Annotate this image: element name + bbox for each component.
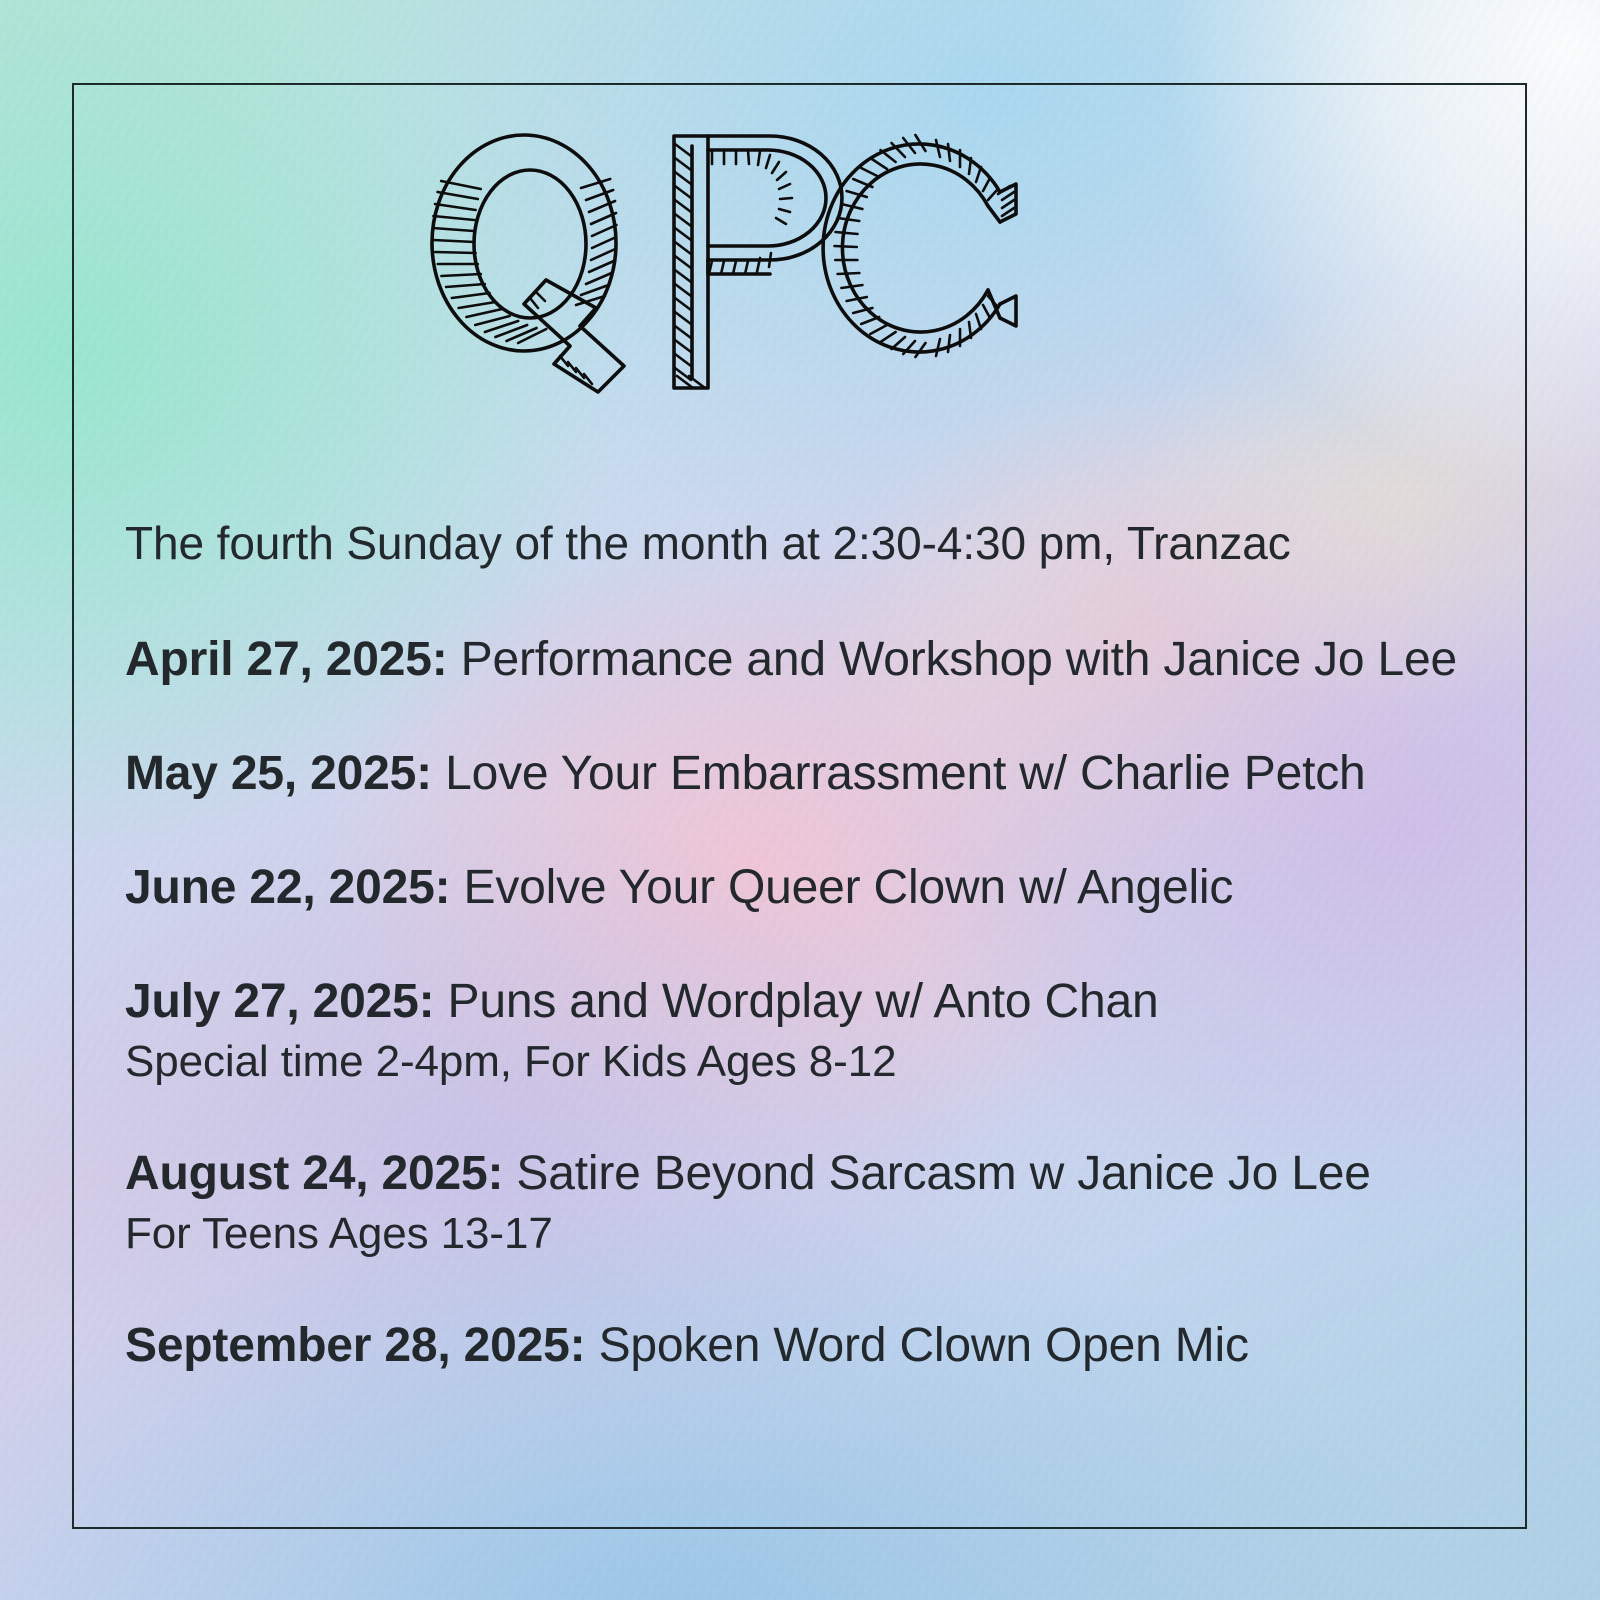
poster-text-content: The fourth Sunday of the month at 2:30-4…: [125, 520, 1485, 1370]
logo-letter-c: [823, 135, 1016, 357]
event-sub-line: Special time 2-4pm, For Kids Ages 8-12: [125, 1040, 1485, 1084]
event-main-line: June 22, 2025: Evolve Your Queer Clown w…: [125, 864, 1485, 912]
event-date: August 24, 2025:: [125, 1147, 503, 1200]
event-main-line: May 25, 2025: Love Your Embarrassment w/…: [125, 750, 1485, 798]
qpc-logo: [420, 128, 1100, 398]
event-main-line: July 27, 2025: Puns and Wordplay w/ Anto…: [125, 978, 1485, 1026]
event-date: July 27, 2025:: [125, 975, 434, 1028]
event-main-line: April 27, 2025: Performance and Workshop…: [125, 636, 1485, 684]
event-item: May 25, 2025: Love Your Embarrassment w/…: [125, 750, 1485, 798]
qpc-logo-strokes: [432, 135, 1016, 392]
event-title: Puns and Wordplay w/ Anto Chan: [434, 975, 1158, 1028]
event-title: Evolve Your Queer Clown w/ Angelic: [450, 861, 1233, 914]
event-item: September 28, 2025: Spoken Word Clown Op…: [125, 1322, 1485, 1370]
event-main-line: August 24, 2025: Satire Beyond Sarcasm w…: [125, 1150, 1485, 1198]
event-main-line: September 28, 2025: Spoken Word Clown Op…: [125, 1322, 1485, 1370]
event-sub-line: For Teens Ages 13-17: [125, 1212, 1485, 1256]
event-date: April 27, 2025:: [125, 633, 448, 686]
event-item: April 27, 2025: Performance and Workshop…: [125, 636, 1485, 684]
event-date: June 22, 2025:: [125, 861, 450, 914]
event-date: May 25, 2025:: [125, 747, 432, 800]
poster-canvas: The fourth Sunday of the month at 2:30-4…: [0, 0, 1600, 1600]
event-item: July 27, 2025: Puns and Wordplay w/ Anto…: [125, 978, 1485, 1084]
schedule-tagline: The fourth Sunday of the month at 2:30-4…: [125, 520, 1485, 566]
event-title: Love Your Embarrassment w/ Charlie Petch: [432, 747, 1366, 800]
logo-letter-p: [674, 136, 842, 388]
event-date: September 28, 2025:: [125, 1319, 585, 1372]
event-item: June 22, 2025: Evolve Your Queer Clown w…: [125, 864, 1485, 912]
event-title: Spoken Word Clown Open Mic: [585, 1319, 1248, 1372]
qpc-logo-svg: [420, 128, 1100, 398]
event-title: Satire Beyond Sarcasm w Janice Jo Lee: [503, 1147, 1371, 1200]
event-item: August 24, 2025: Satire Beyond Sarcasm w…: [125, 1150, 1485, 1256]
logo-letter-q: [432, 135, 624, 392]
event-title: Performance and Workshop with Janice Jo …: [448, 633, 1458, 686]
